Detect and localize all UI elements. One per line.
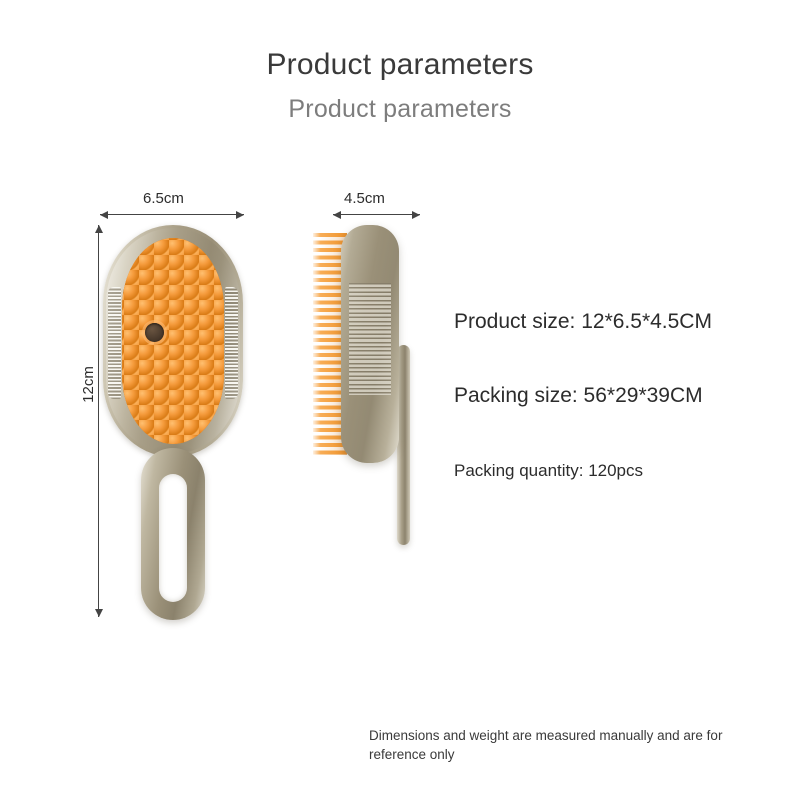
product-parameters-infographic: Product parameters Product parameters 6.… bbox=[0, 0, 800, 800]
bristle-nub-grid bbox=[122, 238, 224, 444]
dimension-arrow-width bbox=[100, 214, 244, 215]
grip-texture-right bbox=[225, 287, 238, 399]
dimension-arrow-height bbox=[98, 225, 99, 617]
product-side-view bbox=[313, 225, 423, 475]
dimension-arrow-depth bbox=[333, 214, 420, 215]
dimension-label-depth: 4.5cm bbox=[344, 190, 385, 207]
spec-packing-quantity: Packing quantity: 120pcs bbox=[454, 461, 643, 481]
page-title: Product parameters bbox=[0, 48, 800, 82]
spec-packing-size: Packing size: 56*29*39CM bbox=[454, 384, 703, 408]
silicone-bristle-pad bbox=[122, 238, 224, 444]
spec-product-size: Product size: 12*6.5*4.5CM bbox=[454, 310, 712, 334]
rib-texture-side bbox=[349, 283, 391, 395]
loop-handle-front bbox=[141, 448, 205, 620]
dimension-label-height: 12cm bbox=[80, 366, 97, 403]
dimension-label-width: 6.5cm bbox=[143, 190, 184, 207]
grip-texture-left bbox=[108, 287, 121, 399]
center-spray-hole bbox=[145, 323, 164, 342]
measurement-disclaimer: Dimensions and weight are measured manua… bbox=[369, 727, 761, 764]
product-front-view bbox=[103, 225, 243, 457]
page-subtitle: Product parameters bbox=[0, 95, 800, 124]
